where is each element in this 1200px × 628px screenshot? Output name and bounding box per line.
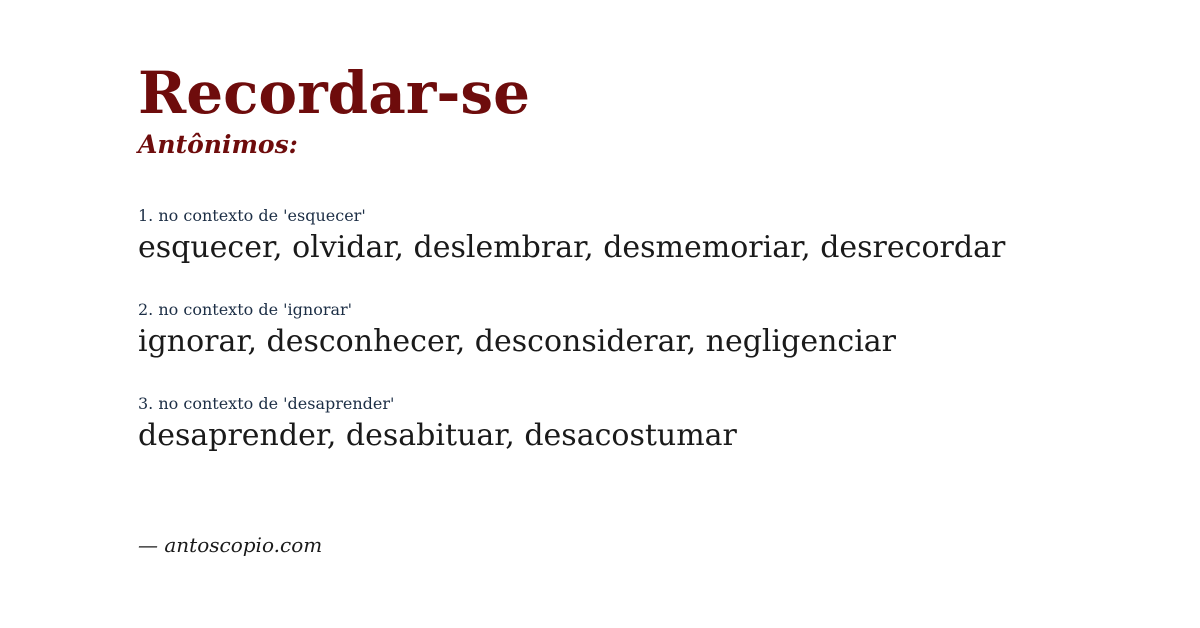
sense-context-label: 3. no contexto de 'desaprender' — [138, 393, 1178, 415]
sense-context-label: 1. no contexto de 'esquecer' — [138, 205, 1178, 227]
antonyms-card: Recordar-se Antônimos: 1. no contexto de… — [0, 0, 1200, 628]
card-header: Recordar-se Antônimos: — [138, 62, 1178, 160]
section-heading-antonyms: Antônimos: — [138, 130, 1178, 160]
sense-antonym-words: desaprender, desabituar, desacostumar — [138, 417, 1178, 455]
page-title: Recordar-se — [138, 62, 1178, 124]
sense-entry-3: 3. no contexto de 'desaprender' desapren… — [138, 393, 1178, 455]
sense-list: 1. no contexto de 'esquecer' esquecer, o… — [138, 205, 1178, 455]
sense-context-label: 2. no contexto de 'ignorar' — [138, 299, 1178, 321]
sense-antonym-words: ignorar, desconhecer, desconsiderar, neg… — [138, 323, 1178, 361]
sense-entry-2: 2. no contexto de 'ignorar' ignorar, des… — [138, 299, 1178, 361]
sense-antonym-words: esquecer, olvidar, deslembrar, desmemori… — [138, 229, 1178, 267]
source-attribution: — antoscopio.com — [138, 532, 1178, 558]
card-footer: — antoscopio.com — [138, 532, 1178, 558]
sense-entry-1: 1. no contexto de 'esquecer' esquecer, o… — [138, 205, 1178, 267]
